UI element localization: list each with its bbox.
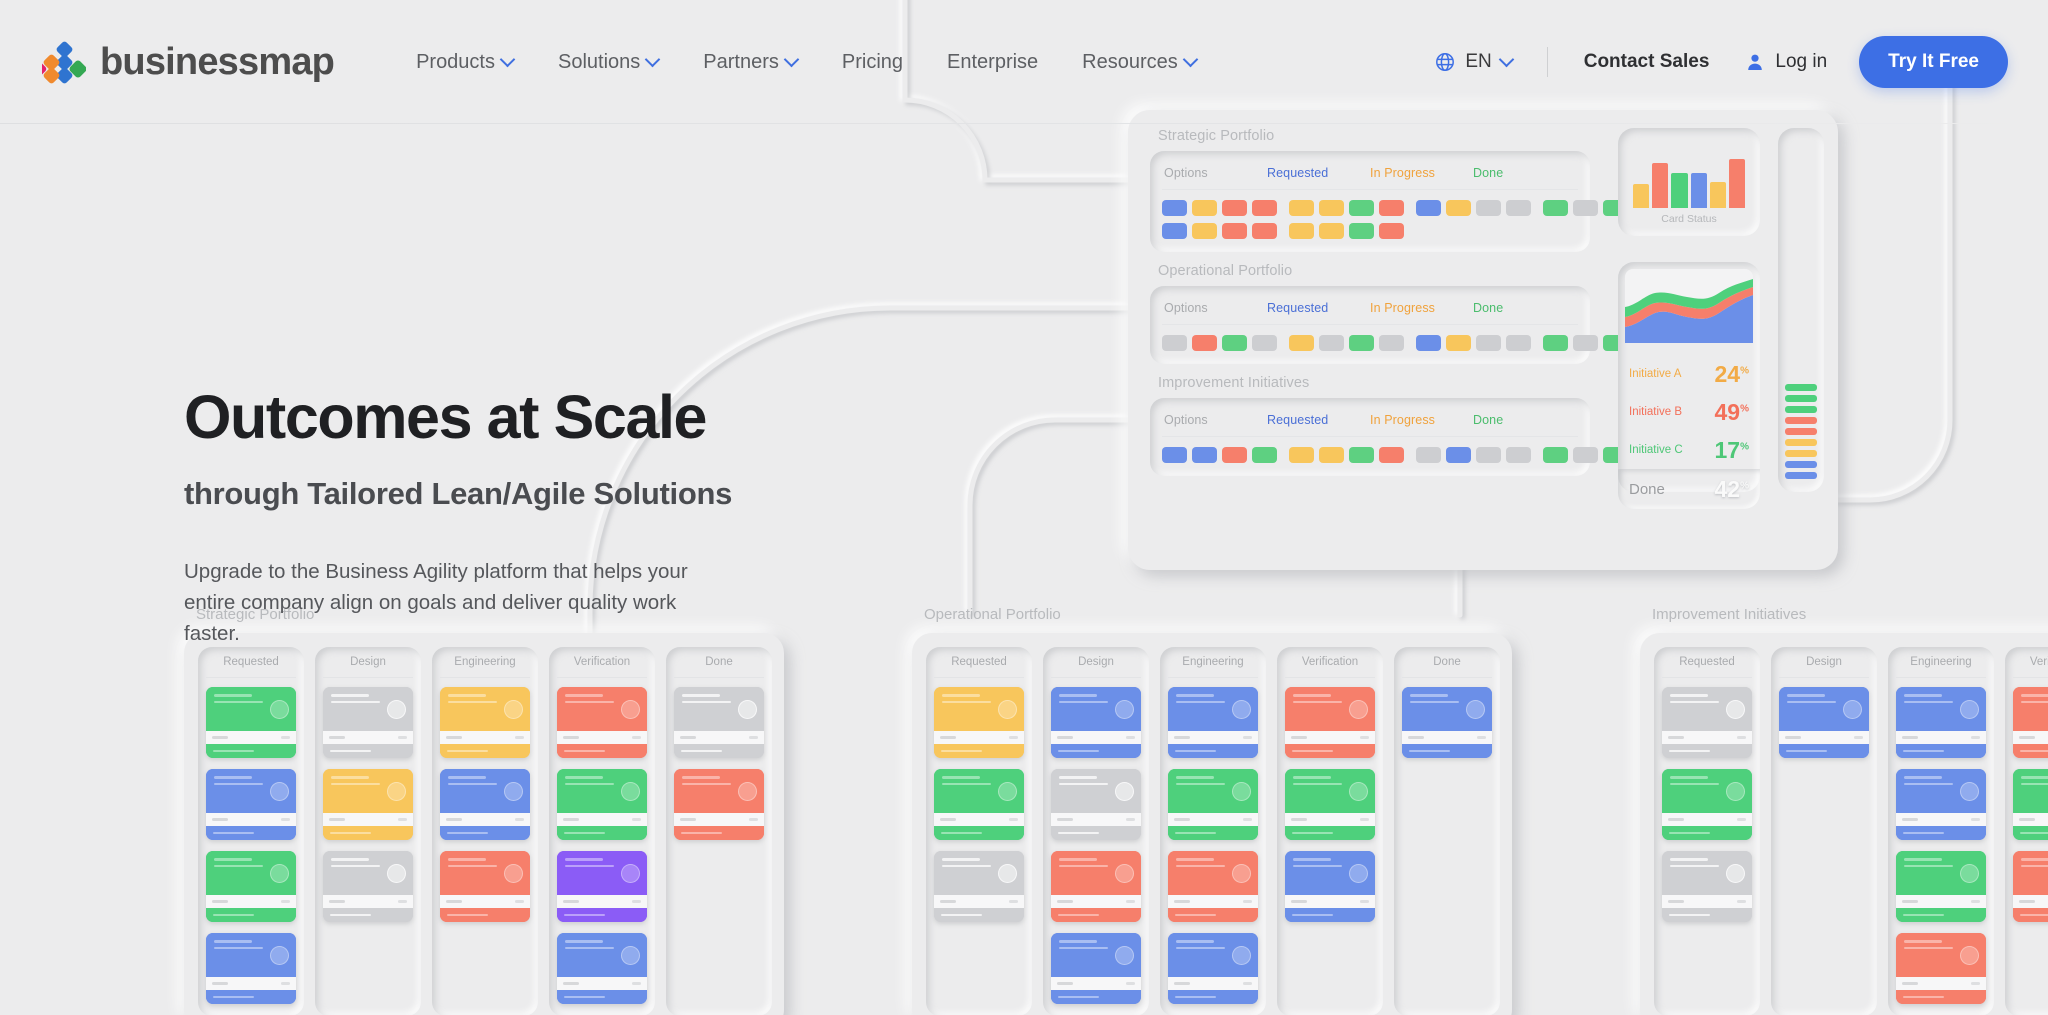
board-card[interactable] — [440, 851, 530, 922]
card-text-line — [1410, 701, 1459, 704]
card-footer — [1662, 826, 1752, 840]
card-top — [2013, 851, 2048, 895]
avatar — [1466, 700, 1485, 719]
card-meta-right — [281, 982, 290, 985]
board-title: Improvement Initiatives — [1652, 606, 2048, 623]
portfolio-chip[interactable] — [1416, 200, 1441, 216]
card-meta-left — [212, 900, 228, 903]
board-card[interactable] — [440, 769, 530, 840]
portfolio-chip[interactable] — [1416, 447, 1441, 463]
portfolio-column-header: In Progress — [1370, 166, 1473, 180]
portfolio-chip[interactable] — [1379, 223, 1404, 239]
portfolio-chip[interactable] — [1222, 335, 1247, 351]
legend-bar — [1785, 461, 1817, 468]
card-meta-left — [2019, 900, 2035, 903]
board-column-header: Done — [674, 656, 764, 678]
portfolio-chip[interactable] — [1319, 335, 1344, 351]
initiative-value: 49% — [1715, 399, 1750, 426]
card-footer — [1285, 744, 1375, 758]
portfolio-title: Improvement Initiatives — [1158, 375, 1590, 391]
portfolio-chip[interactable] — [1379, 447, 1404, 463]
card-meta-right — [398, 900, 407, 903]
site-header: businessmap Products Solutions Partners … — [0, 0, 2048, 124]
card-meta-left — [563, 982, 579, 985]
card-meta — [1662, 813, 1752, 826]
nav-item-products[interactable]: Products — [394, 41, 536, 84]
card-footer — [1168, 826, 1258, 840]
board-card[interactable] — [206, 933, 296, 1004]
board-column-header: Verification — [557, 656, 647, 678]
card-text-line — [942, 694, 980, 697]
card-footer — [557, 826, 647, 840]
card-top — [1285, 687, 1375, 731]
board-card[interactable] — [1896, 687, 1986, 758]
card-footer — [2013, 908, 2048, 922]
card-text-line — [1670, 858, 1708, 861]
chevron-down-icon — [1185, 54, 1197, 66]
card-meta-left — [1902, 818, 1918, 821]
card-meta-left — [1902, 900, 1918, 903]
card-text-line — [682, 701, 731, 704]
portfolio-chip[interactable] — [1349, 335, 1374, 351]
board-column: Requested — [1654, 647, 1760, 1015]
card-meta-right — [632, 982, 641, 985]
avatar — [738, 700, 757, 719]
portfolio-chip[interactable] — [1289, 447, 1314, 463]
portfolio-column-header: Done — [1473, 301, 1576, 315]
card-top — [934, 687, 1024, 731]
card-meta — [557, 813, 647, 826]
card-meta — [557, 731, 647, 744]
board-column-header: Requested — [206, 656, 296, 678]
portfolio-chip[interactable] — [1446, 335, 1471, 351]
card-footer — [557, 990, 647, 1004]
portfolio-chip[interactable] — [1349, 200, 1374, 216]
try-it-free-button[interactable]: Try It Free — [1859, 36, 2008, 88]
hero-subtitle: through Tailored Lean/Agile Solutions — [184, 476, 824, 512]
card-top — [440, 769, 530, 813]
portfolio-chip[interactable] — [1289, 223, 1314, 239]
board-card[interactable] — [1051, 769, 1141, 840]
card-meta-left — [1291, 900, 1307, 903]
portfolio-chip[interactable] — [1162, 223, 1187, 239]
card-meta — [1402, 731, 1492, 744]
portfolio-chip[interactable] — [1446, 200, 1471, 216]
avatar — [1232, 946, 1251, 965]
portfolio-chip[interactable] — [1252, 335, 1277, 351]
card-text-line — [331, 858, 369, 861]
initiative-stat-row: Initiative C17% — [1618, 431, 1760, 469]
card-text-line — [1176, 783, 1225, 786]
board-card[interactable] — [1168, 933, 1258, 1004]
card-footer — [440, 908, 530, 922]
avatar — [387, 700, 406, 719]
card-meta — [1896, 731, 1986, 744]
board-card[interactable] — [1402, 687, 1492, 758]
board-card-list — [1402, 687, 1492, 758]
card-meta-left — [329, 818, 345, 821]
board-column-header: Design — [323, 656, 413, 678]
card-text-line — [1670, 783, 1719, 786]
card-top — [206, 687, 296, 731]
card-meta — [1896, 895, 1986, 908]
card-meta-right — [632, 818, 641, 821]
board-card[interactable] — [1896, 851, 1986, 922]
legend-bar — [1785, 395, 1817, 402]
board-card[interactable] — [206, 687, 296, 758]
portfolio-block: Improvement InitiativesOptionsRequestedI… — [1150, 375, 1590, 476]
card-footer — [206, 744, 296, 758]
card-status-widget: Card Status — [1618, 128, 1760, 236]
card-meta — [1168, 813, 1258, 826]
board-card[interactable] — [1168, 851, 1258, 922]
card-meta — [934, 813, 1024, 826]
card-text-line — [2021, 776, 2048, 779]
portfolio-chip[interactable] — [1192, 223, 1217, 239]
card-meta-right — [281, 736, 290, 739]
card-meta — [674, 731, 764, 744]
avatar — [1232, 864, 1251, 883]
card-meta-right — [515, 900, 524, 903]
card-top — [440, 687, 530, 731]
card-footer — [440, 744, 530, 758]
portfolio-chip[interactable] — [1289, 335, 1314, 351]
portfolio-title: Strategic Portfolio — [1158, 128, 1590, 144]
board-column-header: Verification — [2013, 656, 2048, 678]
board-column: Requested — [926, 647, 1032, 1015]
card-meta-left — [446, 736, 462, 739]
portfolio-chip[interactable] — [1476, 447, 1501, 463]
card-meta-right — [1971, 900, 1980, 903]
portfolio-chip[interactable] — [1222, 447, 1247, 463]
board-card[interactable] — [1779, 687, 1869, 758]
portfolio-chip[interactable] — [1543, 447, 1568, 463]
card-text-line — [1059, 858, 1097, 861]
portfolio-cell — [1497, 223, 1578, 239]
portfolio-block: Operational PortfolioOptionsRequestedIn … — [1150, 263, 1590, 364]
dashboard-panel: Strategic PortfolioOptionsRequestedIn Pr… — [1128, 110, 1838, 570]
board-card[interactable] — [1896, 769, 1986, 840]
portfolio-chip[interactable] — [1222, 223, 1247, 239]
board-card[interactable] — [1168, 687, 1258, 758]
card-meta-right — [1971, 736, 1980, 739]
card-meta-left — [212, 818, 228, 821]
board-card[interactable] — [323, 851, 413, 922]
card-text-line — [1904, 776, 1942, 779]
portfolio-chip[interactable] — [1252, 200, 1277, 216]
avatar — [1349, 782, 1368, 801]
initiative-name: Initiative C — [1629, 444, 1683, 456]
board-card[interactable] — [1051, 933, 1141, 1004]
portfolio-chip[interactable] — [1506, 447, 1531, 463]
card-text-line — [1176, 940, 1214, 943]
portfolio-chip[interactable] — [1319, 223, 1344, 239]
board-column: Engineering — [432, 647, 538, 1015]
board-card[interactable] — [557, 769, 647, 840]
portfolio-chip[interactable] — [1506, 200, 1531, 216]
card-meta-right — [281, 818, 290, 821]
card-footer — [674, 744, 764, 758]
card-text-line — [214, 783, 263, 786]
portfolio-chip[interactable] — [1379, 200, 1404, 216]
card-text-line — [448, 865, 497, 868]
card-text-line — [214, 776, 252, 779]
card-text-line — [2021, 865, 2048, 868]
portfolio-chip[interactable] — [1506, 335, 1531, 351]
board-card[interactable] — [1285, 687, 1375, 758]
portfolio-chip[interactable] — [1543, 200, 1568, 216]
login-link[interactable]: Log in — [1727, 51, 1845, 73]
board-card[interactable] — [1285, 769, 1375, 840]
card-status-bar — [1633, 184, 1649, 208]
portfolio-chip[interactable] — [1543, 335, 1568, 351]
portfolio-rows — [1162, 437, 1578, 463]
portfolio-cell — [1289, 335, 1416, 351]
portfolio-chip[interactable] — [1319, 447, 1344, 463]
portfolio-chip[interactable] — [1349, 223, 1374, 239]
avatar — [1232, 700, 1251, 719]
contact-sales-link[interactable]: Contact Sales — [1566, 51, 1728, 73]
board-card[interactable] — [206, 851, 296, 922]
card-text-line — [1904, 783, 1953, 786]
portfolio-cell — [1162, 200, 1289, 216]
card-meta — [1285, 895, 1375, 908]
card-footer — [1051, 908, 1141, 922]
card-text-line — [448, 783, 497, 786]
card-meta — [323, 813, 413, 826]
portfolio-chip[interactable] — [1319, 200, 1344, 216]
initiative-stat-row: Initiative A24% — [1618, 355, 1760, 393]
card-footer — [674, 826, 764, 840]
card-meta-right — [1126, 982, 1135, 985]
card-meta-right — [1971, 818, 1980, 821]
card-text-line — [1176, 694, 1214, 697]
portfolio-chip[interactable] — [1162, 447, 1187, 463]
portfolio-chip[interactable] — [1192, 335, 1217, 351]
portfolio-column-headers: OptionsRequestedIn ProgressDone — [1162, 162, 1578, 190]
board-card-list — [674, 687, 764, 840]
portfolio-list: Strategic PortfolioOptionsRequestedIn Pr… — [1150, 128, 1590, 487]
card-top — [1896, 687, 1986, 731]
card-footer — [206, 826, 296, 840]
board-card[interactable] — [440, 687, 530, 758]
board-card[interactable] — [557, 933, 647, 1004]
header-actions: EN Contact Sales Log in Try It Free — [1418, 36, 2008, 88]
card-meta-right — [1360, 900, 1369, 903]
avatar — [1232, 782, 1251, 801]
card-footer — [1779, 744, 1869, 758]
board-card[interactable] — [1285, 851, 1375, 922]
portfolio-chip[interactable] — [1416, 335, 1441, 351]
card-footer — [323, 826, 413, 840]
card-text-line — [1410, 694, 1448, 697]
logo[interactable]: businessmap — [42, 40, 334, 84]
board-card[interactable] — [2013, 769, 2048, 840]
portfolio-column-header: Requested — [1267, 301, 1370, 315]
portfolio-card: OptionsRequestedIn ProgressDone — [1150, 398, 1590, 476]
card-footer — [323, 744, 413, 758]
portfolio-chip[interactable] — [1162, 200, 1187, 216]
avatar — [387, 864, 406, 883]
board-column-header: Engineering — [440, 656, 530, 678]
board-card[interactable] — [2013, 687, 2048, 758]
portfolio-chip[interactable] — [1379, 335, 1404, 351]
avatar — [621, 700, 640, 719]
card-meta-left — [1174, 736, 1190, 739]
card-meta — [440, 731, 530, 744]
board-card[interactable] — [1662, 851, 1752, 922]
portfolio-chip[interactable] — [1446, 447, 1471, 463]
landing-page: businessmap Products Solutions Partners … — [0, 0, 2048, 1015]
avatar — [1349, 700, 1368, 719]
initiative-stat-rows: Initiative A24%Initiative B49%Initiative… — [1618, 355, 1760, 469]
board-column: Verification — [2005, 647, 2048, 1015]
initiative-value: 17% — [1715, 437, 1750, 464]
card-meta — [2013, 895, 2048, 908]
card-meta-left — [1785, 736, 1801, 739]
card-meta-right — [1009, 818, 1018, 821]
board-column: Done — [666, 647, 772, 1015]
board-card[interactable] — [1662, 769, 1752, 840]
legend-bar — [1785, 417, 1817, 424]
portfolio-chip[interactable] — [1573, 200, 1598, 216]
card-meta-left — [680, 736, 696, 739]
portfolio-chip[interactable] — [1192, 447, 1217, 463]
card-meta — [1051, 977, 1141, 990]
card-text-line — [214, 947, 263, 950]
board-card[interactable] — [323, 687, 413, 758]
language-selector[interactable]: EN — [1418, 51, 1528, 73]
card-meta-right — [515, 736, 524, 739]
card-meta-left — [212, 982, 228, 985]
board-card-list — [2013, 687, 2048, 922]
card-meta-left — [940, 900, 956, 903]
board-card[interactable] — [2013, 851, 2048, 922]
card-top — [2013, 687, 2048, 731]
card-footer — [934, 826, 1024, 840]
card-top — [206, 933, 296, 977]
portfolio-chip[interactable] — [1192, 200, 1217, 216]
card-text-line — [1904, 701, 1953, 704]
card-footer — [1896, 826, 1986, 840]
card-meta-right — [749, 736, 758, 739]
card-text-line — [448, 694, 486, 697]
portfolio-chip[interactable] — [1252, 447, 1277, 463]
nav-item-partners[interactable]: Partners — [681, 41, 820, 84]
portfolio-cell — [1416, 447, 1543, 463]
board-card[interactable] — [206, 769, 296, 840]
portfolio-chip[interactable] — [1222, 200, 1247, 216]
board-card[interactable] — [1051, 687, 1141, 758]
board-card[interactable] — [674, 687, 764, 758]
nav-item-enterprise[interactable]: Enterprise — [925, 41, 1060, 84]
card-meta-left — [1668, 818, 1684, 821]
card-text-line — [214, 701, 263, 704]
board-card-list — [440, 687, 530, 922]
card-meta-right — [1737, 818, 1746, 821]
card-top — [1896, 851, 1986, 895]
board-card[interactable] — [934, 687, 1024, 758]
avatar — [1726, 864, 1745, 883]
board-card-list — [1285, 687, 1375, 922]
avatar — [1960, 700, 1979, 719]
board-card[interactable] — [934, 851, 1024, 922]
board-card[interactable] — [557, 687, 647, 758]
board-card[interactable] — [557, 851, 647, 922]
portfolio-chip[interactable] — [1349, 447, 1374, 463]
board-card-list — [1168, 687, 1258, 1004]
card-meta — [323, 895, 413, 908]
board-card[interactable] — [1051, 851, 1141, 922]
legend-bar — [1785, 428, 1817, 435]
card-text-line — [565, 783, 614, 786]
card-status-bars — [1626, 136, 1752, 208]
portfolio-chip[interactable] — [1252, 223, 1277, 239]
portfolio-row — [1162, 335, 1578, 351]
card-text-line — [1670, 865, 1719, 868]
board-card[interactable] — [1896, 933, 1986, 1004]
portfolio-chip[interactable] — [1476, 200, 1501, 216]
card-text-line — [214, 865, 263, 868]
user-icon — [1745, 52, 1765, 72]
card-text-line — [682, 694, 720, 697]
card-text-line — [1293, 776, 1331, 779]
board-card[interactable] — [323, 769, 413, 840]
card-footer — [557, 744, 647, 758]
card-meta — [1168, 731, 1258, 744]
card-footer — [206, 990, 296, 1004]
card-top — [1285, 769, 1375, 813]
card-meta — [1896, 813, 1986, 826]
board-card[interactable] — [1662, 687, 1752, 758]
card-footer — [1285, 826, 1375, 840]
card-meta — [2013, 813, 2048, 826]
board-card[interactable] — [934, 769, 1024, 840]
portfolio-chip[interactable] — [1289, 200, 1314, 216]
board-card[interactable] — [674, 769, 764, 840]
card-meta-right — [1477, 736, 1486, 739]
portfolio-chip[interactable] — [1573, 447, 1598, 463]
nav-item-solutions[interactable]: Solutions — [536, 41, 681, 84]
card-text-line — [1059, 783, 1108, 786]
nav-item-resources[interactable]: Resources — [1060, 41, 1219, 84]
card-text-line — [565, 940, 603, 943]
card-text-line — [1670, 694, 1708, 697]
header-divider-vertical — [1547, 47, 1548, 77]
card-footer — [1662, 744, 1752, 758]
card-top — [934, 769, 1024, 813]
card-meta-left — [1902, 736, 1918, 739]
portfolio-chip[interactable] — [1573, 335, 1598, 351]
portfolio-chip[interactable] — [1162, 335, 1187, 351]
card-meta-left — [212, 736, 228, 739]
card-meta-right — [1126, 736, 1135, 739]
card-meta — [1285, 813, 1375, 826]
card-footer — [1402, 744, 1492, 758]
card-meta-right — [632, 900, 641, 903]
card-text-line — [1904, 694, 1942, 697]
card-text-line — [942, 858, 980, 861]
board-body: RequestedDesignEngineeringVerificationDo… — [912, 633, 1512, 1015]
nav-item-pricing[interactable]: Pricing — [820, 41, 925, 84]
board-column-header: Requested — [1662, 656, 1752, 678]
portfolio-chip[interactable] — [1476, 335, 1501, 351]
card-meta — [1051, 731, 1141, 744]
card-footer — [2013, 744, 2048, 758]
card-top — [1051, 687, 1141, 731]
board-column: Engineering — [1160, 647, 1266, 1015]
board-card[interactable] — [1168, 769, 1258, 840]
